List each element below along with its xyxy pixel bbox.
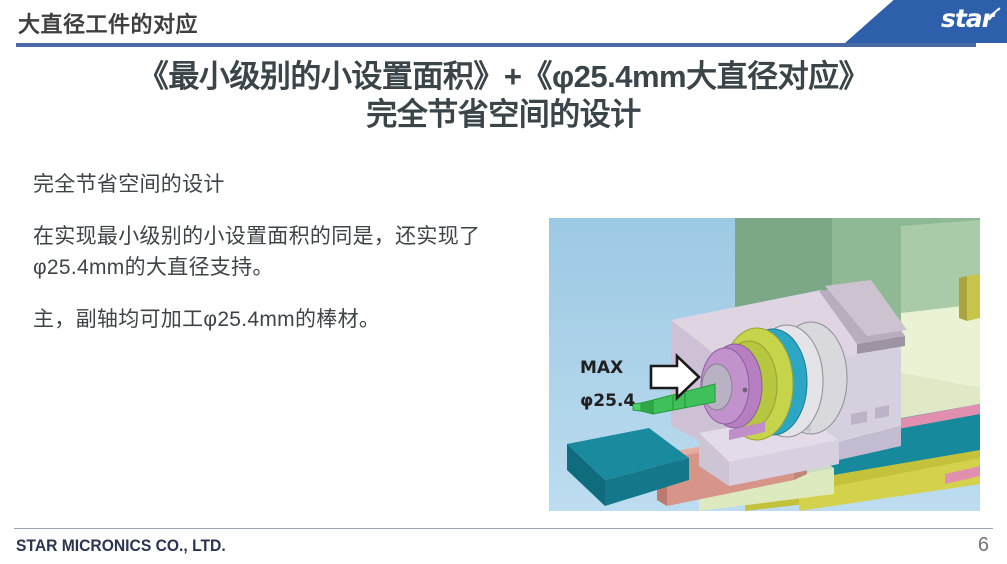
title-line-1: 《最小级别的小设置面积》+《φ25.4mm大直径对应》: [0, 58, 1007, 96]
star-swoosh-icon: [985, 7, 1001, 21]
label-diameter: φ25.4: [580, 391, 635, 411]
footer-company-name: STAR MICRONICS CO., LTD.: [16, 536, 226, 556]
title-line-2: 完全节省空间的设计: [0, 96, 1007, 134]
body-paragraph-1: 完全节省空间的设计: [33, 170, 553, 200]
header-divider: [16, 43, 976, 47]
page-title: 大直径工件的对应: [18, 7, 198, 39]
slide-canvas: 大直径工件的对应 star 《最小级别的小设置面积》+《φ25.4mm大直径对应…: [0, 0, 1007, 564]
body-paragraph-2: 在实现最小级别的小设置面积的同是，还实现了φ25.4mm的大直径支持。: [33, 222, 553, 283]
main-title: 《最小级别的小设置面积》+《φ25.4mm大直径对应》 完全节省空间的设计: [0, 58, 1007, 134]
label-max: MAX: [580, 358, 623, 378]
star-logo: star: [845, 0, 1007, 43]
footer-divider: [14, 528, 993, 529]
body-paragraph-3: 主，副轴均可加工φ25.4mm的棒材。: [33, 305, 553, 335]
body-text-block: 完全节省空间的设计 在实现最小级别的小设置面积的同是，还实现了φ25.4mm的大…: [33, 170, 553, 336]
machine-illustration: MAX φ25.4: [549, 218, 980, 511]
footer-page-number: 6: [978, 534, 989, 557]
